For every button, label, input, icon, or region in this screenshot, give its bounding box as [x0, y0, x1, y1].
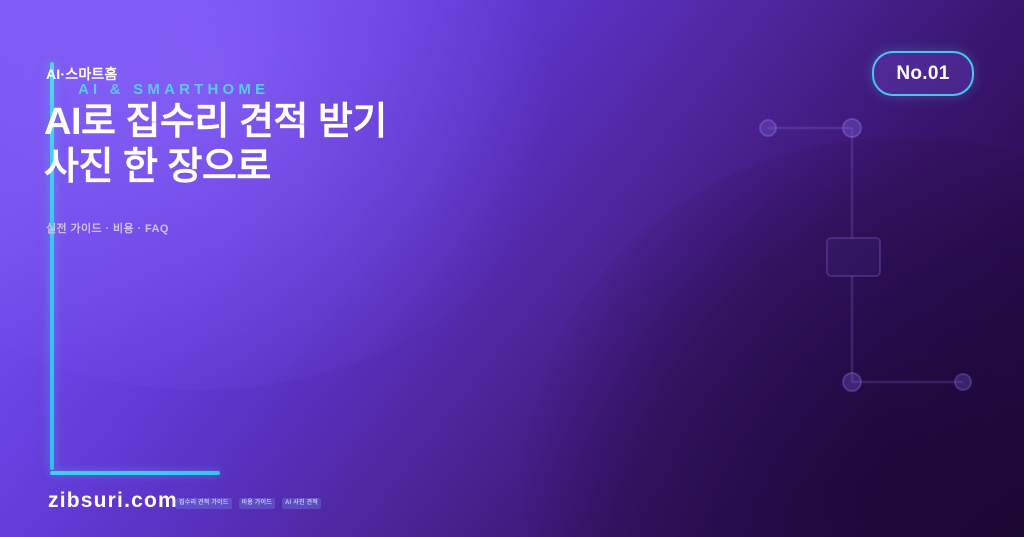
footer-tag-chips: 집수리 견적 가이드 비용 가이드 AI 사진 견적 [176, 498, 321, 509]
diagram-box [827, 238, 880, 276]
node-bottom-left-icon [843, 373, 861, 391]
headline-line-1: AI로 집수리 견적 받기 [44, 101, 387, 143]
page-title: AI로 집수리 견적 받기 사진 한 장으로 [44, 100, 664, 190]
circuit-node-graphic [740, 100, 1000, 410]
horizontal-accent-bar [50, 471, 220, 475]
background-glow-top-left [0, 0, 580, 390]
node-top-right-icon [843, 119, 861, 137]
background-shade-bottom-right [524, 137, 1024, 537]
kicker-english: AI & SMARTHOME [78, 81, 269, 98]
node-bottom-right-icon [955, 374, 971, 390]
headline-line-2: 사진 한 장으로 [44, 145, 664, 190]
hero-banner: AI·스마트홈 AI & SMARTHOME AI로 집수리 견적 받기 사진 … [0, 0, 1024, 537]
number-badge-label: No.01 [896, 63, 949, 85]
number-badge: No.01 [872, 51, 974, 96]
site-domain[interactable]: zibsuri.com [48, 489, 178, 513]
tag-chip: AI 사진 견적 [282, 498, 321, 509]
node-top-left-icon [760, 120, 776, 136]
tag-chip: 비용 가이드 [239, 498, 275, 509]
tag-chip: 집수리 견적 가이드 [176, 498, 232, 509]
subtitle-meta: 실전 가이드 · 비용 · FAQ [46, 220, 169, 236]
